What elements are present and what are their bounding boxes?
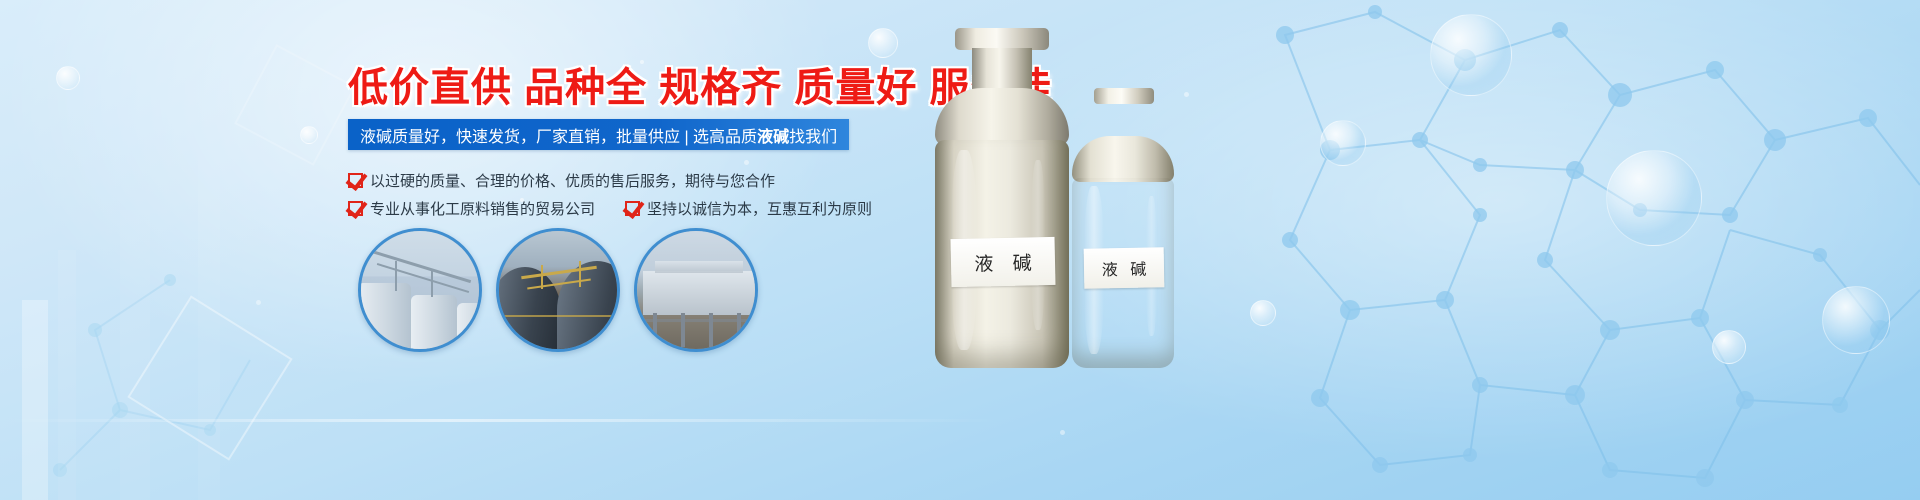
thumbnail-image	[499, 231, 617, 349]
bullet-row-1: 以过硬的质量、合理的价格、优质的售后服务，期待与您合作	[348, 166, 872, 194]
subtitle-text-after: 找我们	[789, 123, 837, 147]
bottle-label-text: 液 碱	[967, 248, 1039, 276]
product-bottle-small: 液 碱	[1068, 88, 1178, 378]
bottle-label-text: 液 碱	[1098, 256, 1151, 281]
thumbnail-image	[637, 231, 755, 349]
subtitle-text-emphasis: 液碱	[757, 123, 789, 147]
check-icon	[348, 173, 363, 188]
check-icon	[348, 201, 363, 216]
bullet-row-2: 专业从事化工原料销售的贸易公司 坚持以诚信为本，互惠互利为原则	[348, 194, 872, 222]
photo-thumbnail-group	[358, 228, 758, 352]
bottle-shoulder	[935, 88, 1069, 146]
list-item: 坚持以诚信为本，互惠互利为原则	[625, 198, 872, 219]
bullet-label: 坚持以诚信为本，互惠互利为原则	[647, 198, 872, 219]
thumbnail-chemical-tanks	[496, 228, 620, 352]
bottle-shoulder	[1072, 136, 1174, 182]
thumbnail-image	[361, 231, 479, 349]
bullet-label: 专业从事化工原料销售的贸易公司	[370, 198, 595, 219]
bottle-rim	[955, 28, 1049, 50]
feature-bullet-list: 以过硬的质量、合理的价格、优质的售后服务，期待与您合作 专业从事化工原料销售的贸…	[348, 166, 872, 222]
subtitle-text-before: 液碱质量好，快速发货，厂家直销，批量供应 | 选高品质	[360, 123, 757, 147]
product-bottle-group: 液 碱 液 碱	[905, 0, 1245, 500]
thumbnail-factory-building	[634, 228, 758, 352]
thumbnail-storage-tanks	[358, 228, 482, 352]
list-item: 以过硬的质量、合理的价格、优质的售后服务，期待与您合作	[348, 170, 775, 191]
promo-banner: 低价直供 品种全 规格齐 质量好 服务佳 液碱质量好，快速发货，厂家直销，批量供…	[0, 0, 1920, 500]
product-bottle-large: 液 碱	[927, 28, 1077, 373]
subtitle-bar: 液碱质量好，快速发货，厂家直销，批量供应 | 选高品质液碱找我们	[348, 119, 849, 150]
bullet-label: 以过硬的质量、合理的价格、优质的售后服务，期待与您合作	[370, 170, 775, 191]
list-item: 专业从事化工原料销售的贸易公司	[348, 198, 595, 219]
bottle-label: 液 碱	[1084, 247, 1165, 288]
bottle-label: 液 碱	[951, 237, 1056, 287]
check-icon	[625, 201, 640, 216]
